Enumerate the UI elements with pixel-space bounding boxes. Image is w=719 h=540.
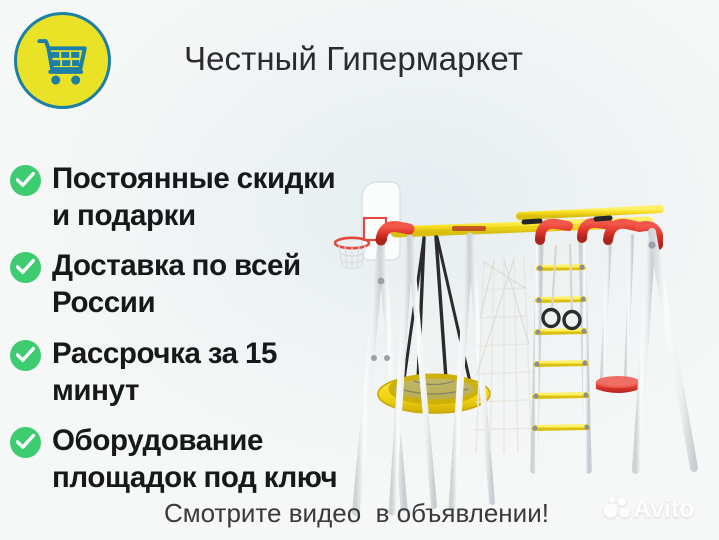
list-item: Постоянные скидки и подарки xyxy=(10,160,360,234)
benefit-text: Постоянные скидки и подарки xyxy=(52,162,335,232)
video-caption: Смотрите видео в объявлении! xyxy=(164,498,549,529)
brand-logo xyxy=(14,12,111,109)
avito-watermark: Avito xyxy=(601,492,705,522)
benefits-list: Постоянные скидки и подарки Доставка по … xyxy=(10,160,360,509)
benefit-text: Оборудование площадок под ключ xyxy=(52,424,337,494)
advertisement-banner: Честный Гипермаркет Постоянные скидки и … xyxy=(0,0,719,540)
list-item: Рассрочка за 15 минут xyxy=(10,335,360,409)
benefit-text: Рассрочка за 15 минут xyxy=(52,337,277,407)
shopping-cart-icon xyxy=(34,32,92,90)
check-circle-icon xyxy=(10,252,41,283)
check-circle-icon xyxy=(10,427,41,458)
list-item: Оборудование площадок под ключ xyxy=(10,422,360,496)
benefit-text: Доставка по всей России xyxy=(52,249,301,319)
page-title: Честный Гипермаркет xyxy=(184,40,704,78)
check-circle-icon xyxy=(10,165,41,196)
check-circle-icon xyxy=(10,340,41,371)
list-item: Доставка по всей России xyxy=(10,247,360,321)
avito-logo-icon: Avito xyxy=(601,492,705,522)
svg-text:Avito: Avito xyxy=(633,495,695,522)
